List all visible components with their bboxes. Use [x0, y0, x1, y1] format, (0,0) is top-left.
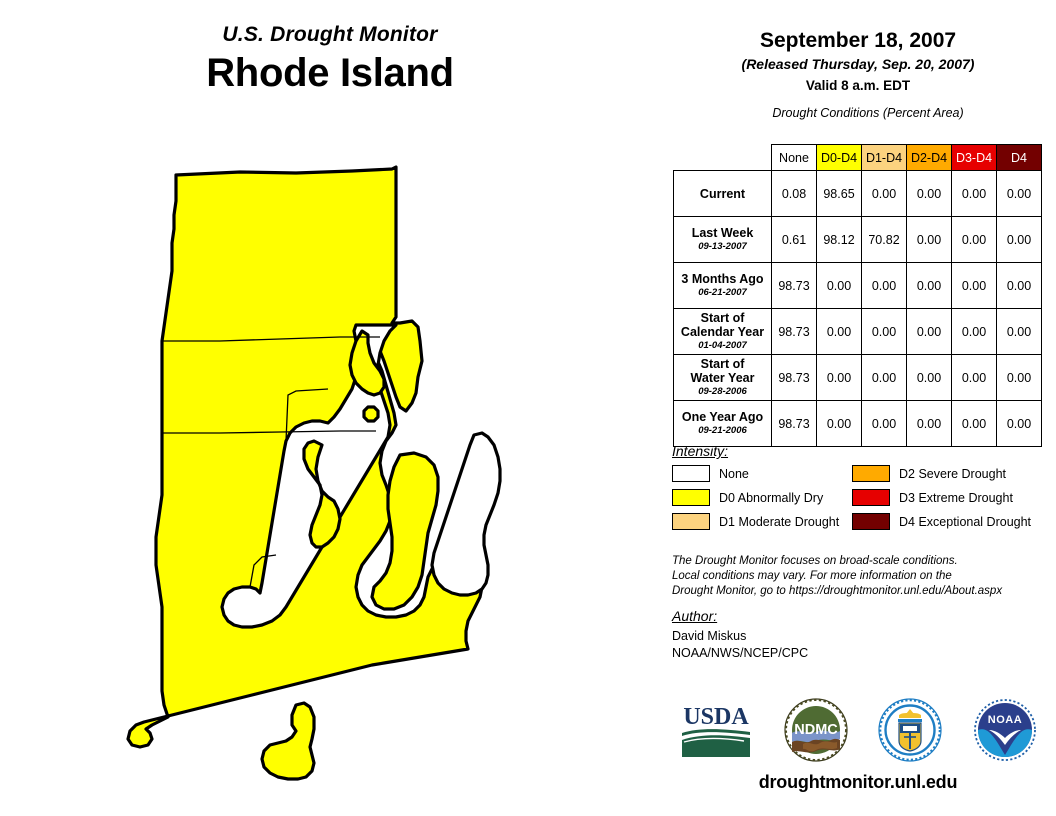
- svg-text:NDMC: NDMC: [794, 722, 838, 738]
- release-date: (Released Thursday, Sep. 20, 2007): [660, 55, 1056, 74]
- cell-3-5: 0.00: [997, 309, 1042, 355]
- author-name: David Miskus: [672, 628, 1052, 645]
- legend-swatch-d1: [672, 513, 710, 530]
- legend-label-d1: D1 Moderate Drought: [719, 514, 839, 530]
- cell-1-5: 0.00: [997, 217, 1042, 263]
- row-label: Start ofWater Year09-28-2006: [674, 355, 772, 401]
- rhode-island-drought-map: [100, 145, 620, 795]
- row-label: One Year Ago09-21-2006: [674, 401, 772, 447]
- logo-row: USDA NDMC: [664, 694, 1052, 766]
- cell-5-4: 0.00: [952, 401, 997, 447]
- legend-label-d3: D3 Extreme Drought: [899, 490, 1013, 506]
- valid-time: Valid 8 a.m. EDT: [660, 76, 1056, 95]
- date-block: September 18, 2007 (Released Thursday, S…: [660, 0, 1056, 95]
- row-label: Current: [674, 171, 772, 217]
- cell-0-0: 0.08: [772, 171, 817, 217]
- site-url: droughtmonitor.unl.edu: [660, 772, 1056, 793]
- table-body: Current0.0898.650.000.000.000.00Last Wee…: [674, 171, 1042, 447]
- cell-3-3: 0.00: [907, 309, 952, 355]
- author-block: Author: David Miskus NOAA/NWS/NCEP/CPC: [672, 608, 1052, 662]
- cell-0-1: 98.65: [817, 171, 862, 217]
- cell-2-3: 0.00: [907, 263, 952, 309]
- cell-3-4: 0.00: [952, 309, 997, 355]
- cell-2-4: 0.00: [952, 263, 997, 309]
- block-island: [262, 703, 314, 779]
- cell-1-1: 98.12: [817, 217, 862, 263]
- row-label: 3 Months Ago06-21-2007: [674, 263, 772, 309]
- cell-1-2: 70.82: [862, 217, 907, 263]
- svg-text:USDA: USDA: [684, 704, 750, 730]
- disclaimer-line-2: Local conditions may vary. For more info…: [672, 569, 1056, 584]
- state-title: Rhode Island: [0, 50, 660, 96]
- legend-swatch-none: [672, 465, 710, 482]
- row-label-date: 01-04-2007: [677, 340, 768, 352]
- author-organization: NOAA/NWS/NCEP/CPC: [672, 645, 1052, 662]
- row-label: Last Week09-13-2007: [674, 217, 772, 263]
- map-title-block: U.S. Drought Monitor Rhode Island: [0, 22, 660, 96]
- table-row: Current0.0898.650.000.000.000.00: [674, 171, 1042, 217]
- legend-label-d4: D4 Exceptional Drought: [899, 514, 1031, 530]
- table-row: 3 Months Ago06-21-200798.730.000.000.000…: [674, 263, 1042, 309]
- cell-5-0: 98.73: [772, 401, 817, 447]
- noaa-logo: NOAA: [972, 697, 1038, 763]
- commerce-seal-logo: [877, 697, 943, 763]
- cell-2-0: 98.73: [772, 263, 817, 309]
- cell-5-1: 0.00: [817, 401, 862, 447]
- disclaimer-line-3: Drought Monitor, go to https://droughtmo…: [672, 584, 1056, 599]
- table-row: Start ofCalendar Year01-04-200798.730.00…: [674, 309, 1042, 355]
- legend-swatch-d0: [672, 489, 710, 506]
- column-header-d2-d4: D2-D4: [907, 145, 952, 171]
- small-island-dot: [364, 407, 378, 421]
- intensity-legend: Intensity: None D2 Severe Drought D0 Abn…: [672, 443, 1052, 530]
- row-label-date: 09-28-2006: [677, 386, 768, 398]
- column-header-d4: D4: [997, 145, 1042, 171]
- cell-0-4: 0.00: [952, 171, 997, 217]
- table-caption: Drought Conditions (Percent Area): [660, 106, 1056, 120]
- legend-item-d4: D4 Exceptional Drought: [852, 513, 1052, 530]
- cell-1-0: 0.61: [772, 217, 817, 263]
- legend-item-d2: D2 Severe Drought: [852, 465, 1052, 482]
- cell-5-5: 0.00: [997, 401, 1042, 447]
- legend-item-none: None: [672, 465, 852, 482]
- cell-0-3: 0.00: [907, 171, 952, 217]
- legend-item-d3: D3 Extreme Drought: [852, 489, 1052, 506]
- intensity-legend-title: Intensity:: [672, 443, 1052, 459]
- cell-2-1: 0.00: [817, 263, 862, 309]
- author-heading: Author:: [672, 608, 1052, 624]
- column-header-d1-d4: D1-D4: [862, 145, 907, 171]
- cell-4-0: 98.73: [772, 355, 817, 401]
- legend-label-d0: D0 Abnormally Dry: [719, 490, 823, 506]
- row-label: Start ofCalendar Year01-04-2007: [674, 309, 772, 355]
- cell-4-2: 0.00: [862, 355, 907, 401]
- table-row: Last Week09-13-20070.6198.1270.820.000.0…: [674, 217, 1042, 263]
- column-header-none: None: [772, 145, 817, 171]
- table-header-row: None D0-D4 D1-D4 D2-D4 D3-D4 D4: [674, 145, 1042, 171]
- cell-2-2: 0.00: [862, 263, 907, 309]
- table-corner-cell: [674, 145, 772, 171]
- cell-1-3: 0.00: [907, 217, 952, 263]
- cell-4-1: 0.00: [817, 355, 862, 401]
- program-title: U.S. Drought Monitor: [0, 22, 660, 48]
- cell-4-5: 0.00: [997, 355, 1042, 401]
- disclaimer-text: The Drought Monitor focuses on broad-sca…: [672, 554, 1056, 599]
- valid-date: September 18, 2007: [660, 28, 1056, 54]
- legend-label-none: None: [719, 466, 749, 482]
- table-row: One Year Ago09-21-200698.730.000.000.000…: [674, 401, 1042, 447]
- disclaimer-line-1: The Drought Monitor focuses on broad-sca…: [672, 554, 1056, 569]
- cell-4-4: 0.00: [952, 355, 997, 401]
- row-label-date: 09-13-2007: [677, 241, 768, 253]
- cell-2-5: 0.00: [997, 263, 1042, 309]
- usda-logo: USDA: [678, 699, 754, 761]
- legend-swatch-d2: [852, 465, 890, 482]
- legend-item-d1: D1 Moderate Drought: [672, 513, 852, 530]
- row-label-date: 09-21-2006: [677, 425, 768, 437]
- cell-0-5: 0.00: [997, 171, 1042, 217]
- column-header-d0-d4: D0-D4: [817, 145, 862, 171]
- cell-3-2: 0.00: [862, 309, 907, 355]
- cell-5-2: 0.00: [862, 401, 907, 447]
- svg-text:NOAA: NOAA: [988, 714, 1022, 726]
- legend-swatch-d4: [852, 513, 890, 530]
- drought-conditions-table: None D0-D4 D1-D4 D2-D4 D3-D4 D4 Current0…: [673, 144, 1042, 447]
- table-row: Start ofWater Year09-28-200698.730.000.0…: [674, 355, 1042, 401]
- right-info-panel: September 18, 2007 (Released Thursday, S…: [660, 0, 1056, 816]
- legend-swatch-d3: [852, 489, 890, 506]
- legend-label-d2: D2 Severe Drought: [899, 466, 1006, 482]
- ndmc-logo: NDMC: [783, 697, 849, 763]
- legend-item-d0: D0 Abnormally Dry: [672, 489, 852, 506]
- cell-3-1: 0.00: [817, 309, 862, 355]
- cell-3-0: 98.73: [772, 309, 817, 355]
- sakonnet-river-water: [432, 433, 500, 595]
- cell-4-3: 0.00: [907, 355, 952, 401]
- legend-grid: None D2 Severe Drought D0 Abnormally Dry…: [672, 465, 1052, 530]
- cell-5-3: 0.00: [907, 401, 952, 447]
- cell-0-2: 0.00: [862, 171, 907, 217]
- cell-1-4: 0.00: [952, 217, 997, 263]
- column-header-d3-d4: D3-D4: [952, 145, 997, 171]
- row-label-date: 06-21-2007: [677, 287, 768, 299]
